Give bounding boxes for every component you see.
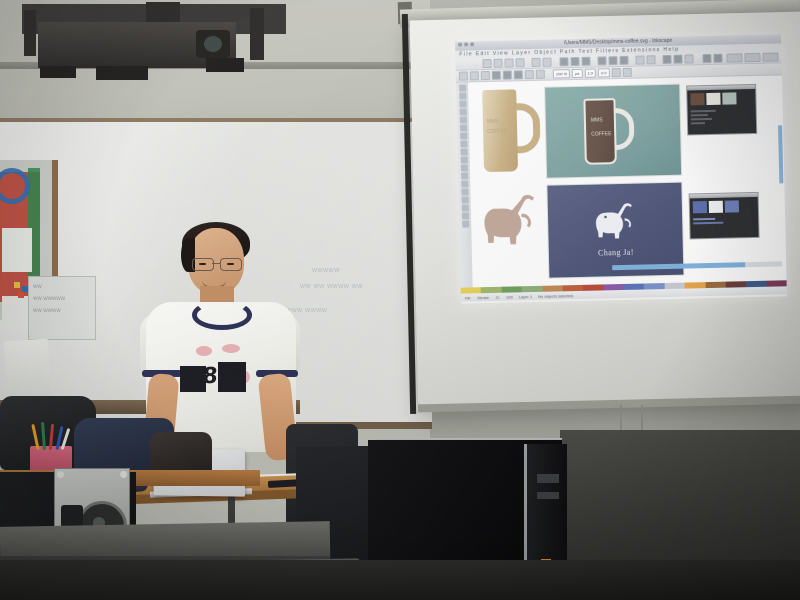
document-properties-icon[interactable] xyxy=(744,53,760,62)
floor xyxy=(0,560,800,600)
select-none-icon[interactable] xyxy=(470,71,479,80)
ungroup-icon[interactable] xyxy=(647,55,656,64)
print-icon[interactable] xyxy=(515,58,524,67)
rotate-left-icon[interactable] xyxy=(481,71,490,80)
rotate-right-icon[interactable] xyxy=(492,71,501,80)
projector-foot-center xyxy=(96,66,148,80)
duplicate-icon[interactable] xyxy=(582,57,591,66)
shirt-collar xyxy=(192,300,252,330)
status-opacity-value[interactable]: 100 xyxy=(506,294,513,299)
dropper-tool-icon[interactable] xyxy=(461,196,468,203)
preferences-icon[interactable] xyxy=(726,53,742,62)
undo-icon[interactable] xyxy=(532,58,541,67)
panel-fields-top xyxy=(688,107,756,129)
drive-bay-slot xyxy=(537,492,559,499)
lock-ratio-icon[interactable] xyxy=(611,68,620,77)
swatch-brown[interactable] xyxy=(690,93,704,105)
drawing-canvas[interactable]: MMS COFFEE MMS COFFEE xyxy=(468,75,787,287)
help-icon[interactable] xyxy=(762,52,778,61)
save-icon[interactable] xyxy=(504,58,513,67)
projector-arm-left xyxy=(24,10,36,56)
open-document-icon[interactable] xyxy=(493,59,502,68)
panel-swatch-row-bottom[interactable] xyxy=(690,197,758,217)
flip-vertical-icon[interactable] xyxy=(514,70,523,79)
flip-horizontal-icon[interactable] xyxy=(503,70,512,79)
tan-mug-text-2: COFFEE xyxy=(487,128,507,136)
eye-left xyxy=(199,263,206,265)
zoom-page-icon[interactable] xyxy=(620,56,629,65)
width-field[interactable]: 1.0 xyxy=(584,69,596,78)
board-decoration-orange xyxy=(18,292,24,298)
projector-arm-right xyxy=(250,8,264,60)
swatch-periwinkle[interactable] xyxy=(725,200,739,212)
swatch-cream[interactable] xyxy=(706,93,720,105)
x-coordinate-field[interactable]: 100 % xyxy=(553,69,571,78)
fill-stroke-icon[interactable] xyxy=(702,54,711,63)
board-paper-1 xyxy=(2,228,32,272)
glasses-lens-left xyxy=(192,258,214,271)
panel-fields-bottom xyxy=(690,215,758,229)
app-workspace: MMS COFFEE MMS COFFEE xyxy=(456,75,787,287)
slide-mms-coffee[interactable]: MMS COFFEE xyxy=(544,84,682,179)
paste-icon[interactable] xyxy=(571,57,580,66)
node-tool-icon[interactable] xyxy=(459,93,466,100)
optical-drive-slot[interactable] xyxy=(537,474,559,483)
eraser-tool-icon[interactable] xyxy=(462,220,469,227)
glasses-bridge xyxy=(212,263,220,264)
y-coordinate-field[interactable]: px xyxy=(572,69,582,78)
status-opacity-label: O: xyxy=(496,294,500,299)
connector-tool-icon[interactable] xyxy=(461,204,468,211)
projector-foot-left xyxy=(40,66,76,78)
status-layer-name[interactable]: Layer 1 xyxy=(519,294,532,299)
xml-editor-icon[interactable] xyxy=(674,55,683,64)
slide-caption: Chang Ja! xyxy=(549,247,683,259)
canvas-vertical-scrollbar[interactable] xyxy=(778,125,783,183)
eye-right xyxy=(227,263,234,265)
new-document-icon[interactable] xyxy=(482,59,491,68)
zoom-out-icon[interactable] xyxy=(609,56,618,65)
swatch-sage[interactable] xyxy=(722,92,736,104)
wall-note-line-3: ww wwww xyxy=(33,307,61,315)
wall-note-line-2: ww wwwww xyxy=(33,295,65,303)
lower-to-bottom-icon[interactable] xyxy=(536,70,545,79)
brown-mug: MMS COFFEE xyxy=(583,98,628,165)
text-tool-icon[interactable] xyxy=(663,55,672,64)
redo-icon[interactable] xyxy=(543,58,552,67)
units-dropdown[interactable] xyxy=(622,68,631,77)
panel-document-properties[interactable] xyxy=(689,192,760,240)
star-tool-icon[interactable] xyxy=(460,140,467,147)
text-tool-palette-icon[interactable] xyxy=(461,180,468,187)
whiteboard-note-1: wwwww xyxy=(312,266,340,275)
gradient-tool-icon[interactable] xyxy=(461,188,468,195)
paint-bucket-icon[interactable] xyxy=(461,212,468,219)
spiral-tool-icon[interactable] xyxy=(460,148,467,155)
wall-note-line-1: ww xyxy=(33,283,42,291)
ellipse-tool-icon[interactable] xyxy=(460,132,467,139)
brown-mug-text-2: COFFEE xyxy=(591,130,611,138)
copy-icon[interactable] xyxy=(560,57,569,66)
zoom-in-icon[interactable] xyxy=(598,56,607,65)
wall-note: ww ww wwwww ww wwww xyxy=(28,276,96,340)
classroom-photo: wwwww ww ww wwww ww www wwww ww ww wwwww… xyxy=(0,0,800,600)
projected-application: /Users/MMS/Desktop/mms-coffee.svg - Inks… xyxy=(455,34,787,303)
panel-swatch-row-top[interactable] xyxy=(687,89,755,109)
calligraphy-tool-icon[interactable] xyxy=(461,172,468,179)
board-decoration-yellow xyxy=(14,282,20,288)
zoom-tool-icon[interactable] xyxy=(459,108,466,115)
status-stroke-label: Stroke: xyxy=(477,295,490,300)
align-icon[interactable] xyxy=(685,54,694,63)
shirt-graphic: 1864 xyxy=(178,344,258,400)
brown-mug-text-1: MMS xyxy=(591,116,603,124)
artwork-tan-elephant[interactable] xyxy=(477,193,546,251)
status-selection-message: No objects selected. xyxy=(538,293,574,299)
shirt-number: 1864 xyxy=(187,364,246,389)
cube-tool-icon[interactable] xyxy=(459,124,466,131)
projector-lens xyxy=(196,30,230,58)
panel-fill-and-stroke[interactable] xyxy=(686,84,757,136)
group-icon[interactable] xyxy=(636,55,645,64)
tweak-tool-icon[interactable] xyxy=(459,101,466,108)
raise-to-top-icon[interactable] xyxy=(525,70,534,79)
glasses xyxy=(192,258,240,269)
projector-foot-right xyxy=(206,58,244,72)
bezier-tool-icon[interactable] xyxy=(460,164,467,171)
rectangle-tool-icon[interactable] xyxy=(459,116,466,123)
swatch-indigo[interactable] xyxy=(693,201,707,213)
selector-tool-icon[interactable] xyxy=(459,85,466,92)
status-fill-label: Fill: xyxy=(465,295,471,300)
layers-icon[interactable] xyxy=(713,54,722,63)
swatch-white[interactable] xyxy=(709,201,723,213)
artwork-tan-mug[interactable]: MMS COFFEE xyxy=(482,89,530,172)
tan-mug-text-1: MMS xyxy=(487,118,499,126)
white-elephant-icon xyxy=(588,197,647,242)
height-field[interactable]: 0.0 xyxy=(598,68,610,77)
select-all-icon[interactable] xyxy=(459,71,468,80)
pencil-tool-icon[interactable] xyxy=(460,156,467,163)
glasses-lens-right xyxy=(220,258,242,271)
